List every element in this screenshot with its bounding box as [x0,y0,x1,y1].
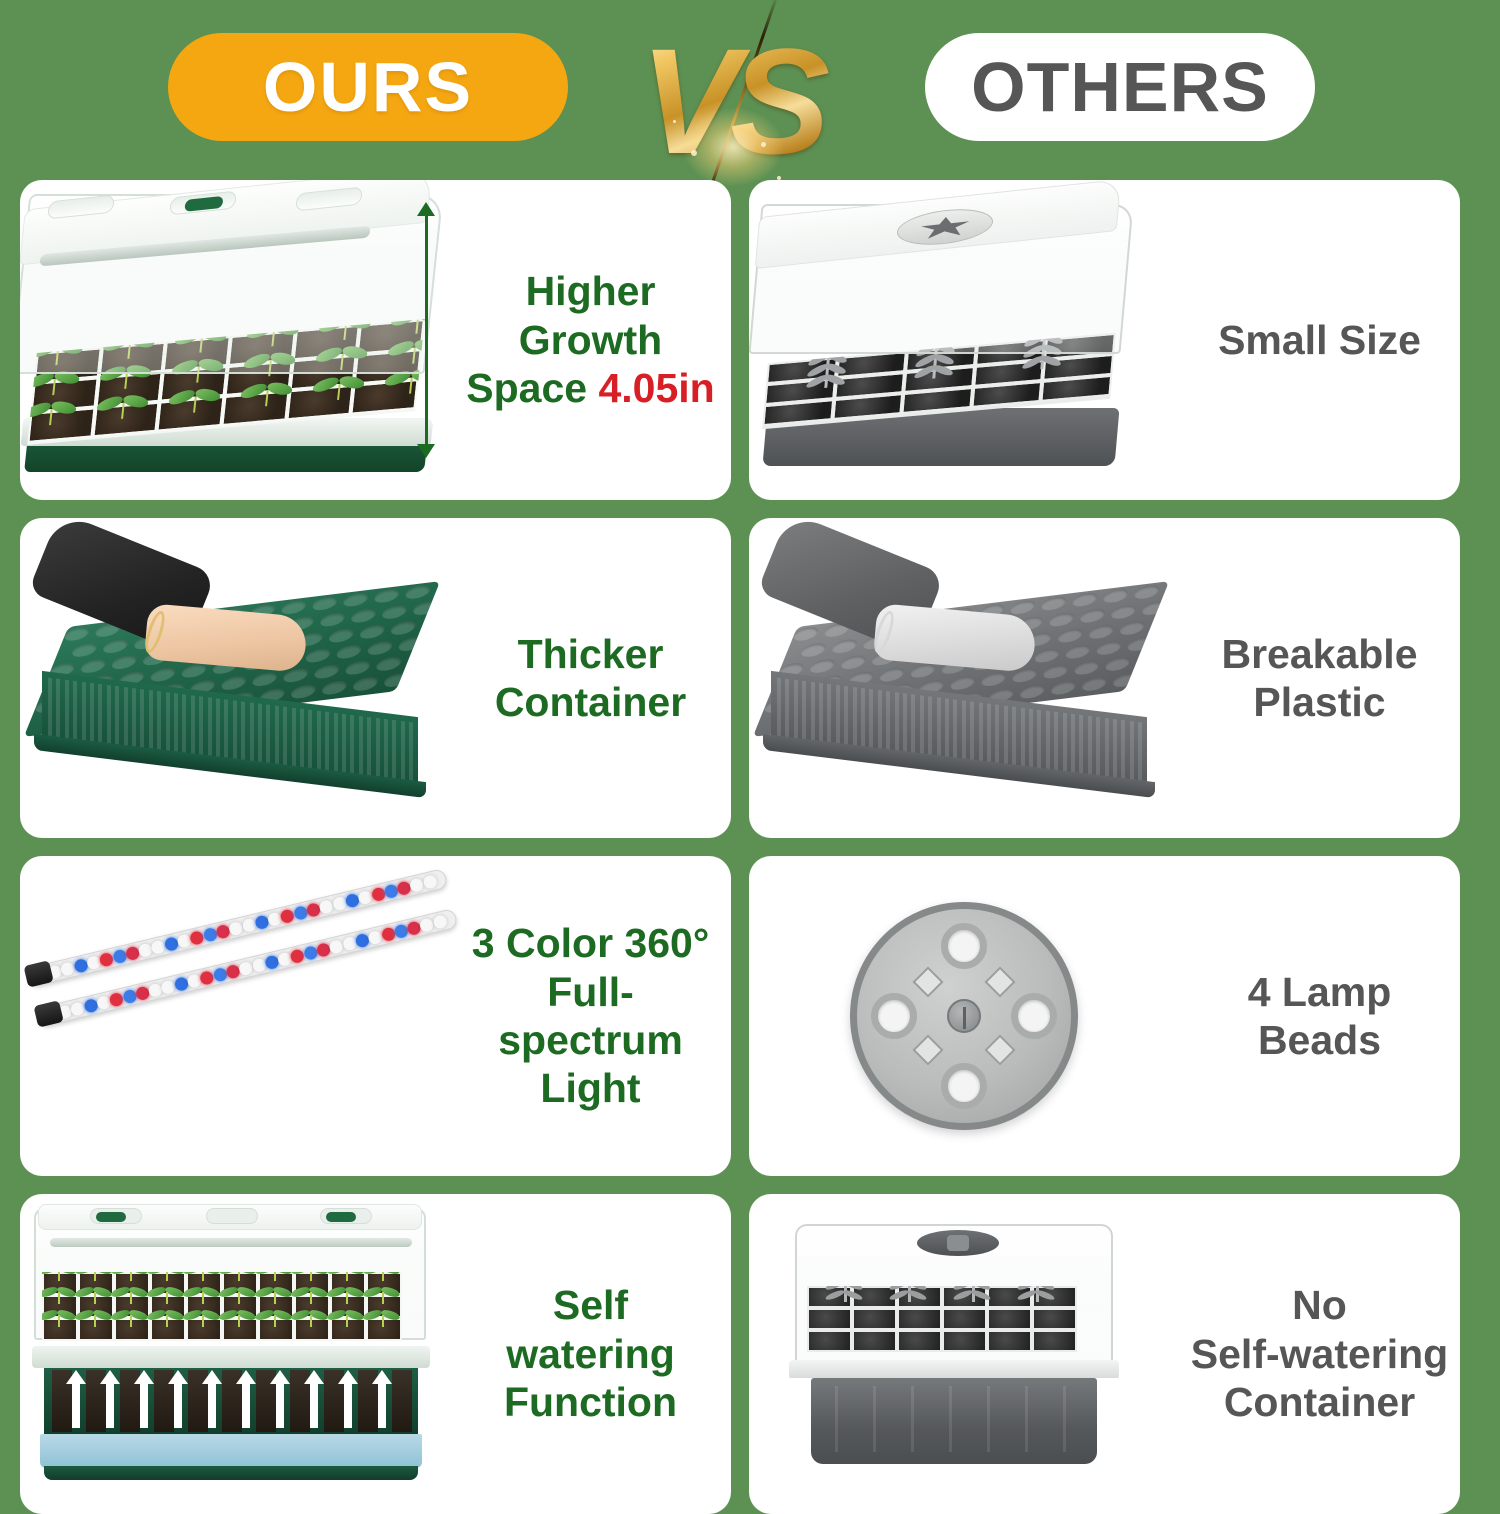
tall-dome-tray-image [20,180,450,500]
caption-line-2: Self-watering [1191,1331,1448,1377]
water-reservoir [40,1434,422,1468]
ours-card-full-spectrum-light: 3 Color 360° Full-spectrum Light [20,856,731,1176]
caption-line-1: Small Size [1218,317,1421,363]
hand-on-grey-container-image [749,518,1179,838]
others-caption-breakable-plastic: Breakable Plastic [1179,630,1460,727]
caption-line-2: Container [495,679,686,725]
caption-line-1: Self [553,1282,628,1328]
caption-line-2: watering [506,1331,675,1377]
lamp-disc-image [749,856,1179,1176]
comparison-row: Self watering Function [20,1194,1480,1514]
small-grey-tray-image [749,180,1179,500]
caption-line-1: Thicker [518,631,664,677]
caption-line-2: Beads [1258,1017,1381,1063]
hand-on-green-container-image [20,518,450,838]
ours-card-self-watering: Self watering Function [20,1194,731,1514]
caption-line-3: Function [504,1379,677,1425]
others-caption-lamp-beads: 4 Lamp Beads [1179,968,1460,1065]
comparison-row: Thicker Container [20,518,1480,838]
ours-caption-thicker-container: Thicker Container [450,630,731,727]
grey-no-reservoir-tray-image [749,1194,1179,1514]
ours-caption-full-spectrum-light: 3 Color 360° Full-spectrum Light [450,919,731,1113]
dome-vent-cap-icon [917,1230,999,1256]
vs-label: VS [615,26,845,176]
others-card-small-size: Small Size [749,180,1460,500]
others-card-lamp-beads: 4 Lamp Beads [749,856,1460,1176]
caption-line-3: Light [540,1065,640,1111]
others-badge: OTHERS [925,33,1315,141]
others-card-no-self-watering: No Self-watering Container [749,1194,1460,1514]
lamp-disc-icon [850,902,1078,1130]
others-badge-label: OTHERS [971,47,1269,127]
caption-line-3: Space [466,365,598,411]
comparison-grid: Higher Growth Space 4.05in [20,180,1480,1514]
ours-card-thicker-container: Thicker Container [20,518,731,838]
growth-space-value: 4.05in [598,365,714,411]
others-caption-small-size: Small Size [1179,316,1460,364]
caption-line-1: 4 Lamp [1248,969,1392,1015]
comparison-infographic: OURS VS OTHERS [0,0,1500,1500]
ours-caption-self-watering: Self watering Function [450,1281,731,1426]
comparison-row: Higher Growth Space 4.05in [20,180,1480,500]
caption-line-1: No [1292,1282,1347,1328]
height-measure-arrow-icon [414,202,438,458]
caption-line-2: Growth [519,317,662,363]
others-card-breakable-plastic: Breakable Plastic [749,518,1460,838]
ours-badge-label: OURS [263,47,473,127]
caption-line-2: Plastic [1253,679,1385,725]
ours-card-growth-space: Higher Growth Space 4.05in [20,180,731,500]
spark-icon [673,120,676,123]
header: OURS VS OTHERS [0,0,1500,180]
comparison-row: 3 Color 360° Full-spectrum Light [20,856,1480,1176]
ours-badge: OURS [168,33,568,141]
caption-line-1: Breakable [1221,631,1417,677]
led-grow-light-strips-image [20,856,450,1176]
spark-icon [691,150,697,156]
others-caption-no-self-watering: No Self-watering Container [1179,1281,1460,1426]
center-screw-icon [947,999,981,1033]
caption-line-1: Higher [526,268,656,314]
ours-caption-growth-space: Higher Growth Space 4.05in [450,267,731,412]
caption-line-3: Container [1224,1379,1415,1425]
spark-icon [761,142,766,147]
caption-line-2: Full-spectrum [498,969,683,1063]
caption-line-1: 3 Color 360° [472,920,709,966]
self-watering-tray-image [20,1194,450,1514]
